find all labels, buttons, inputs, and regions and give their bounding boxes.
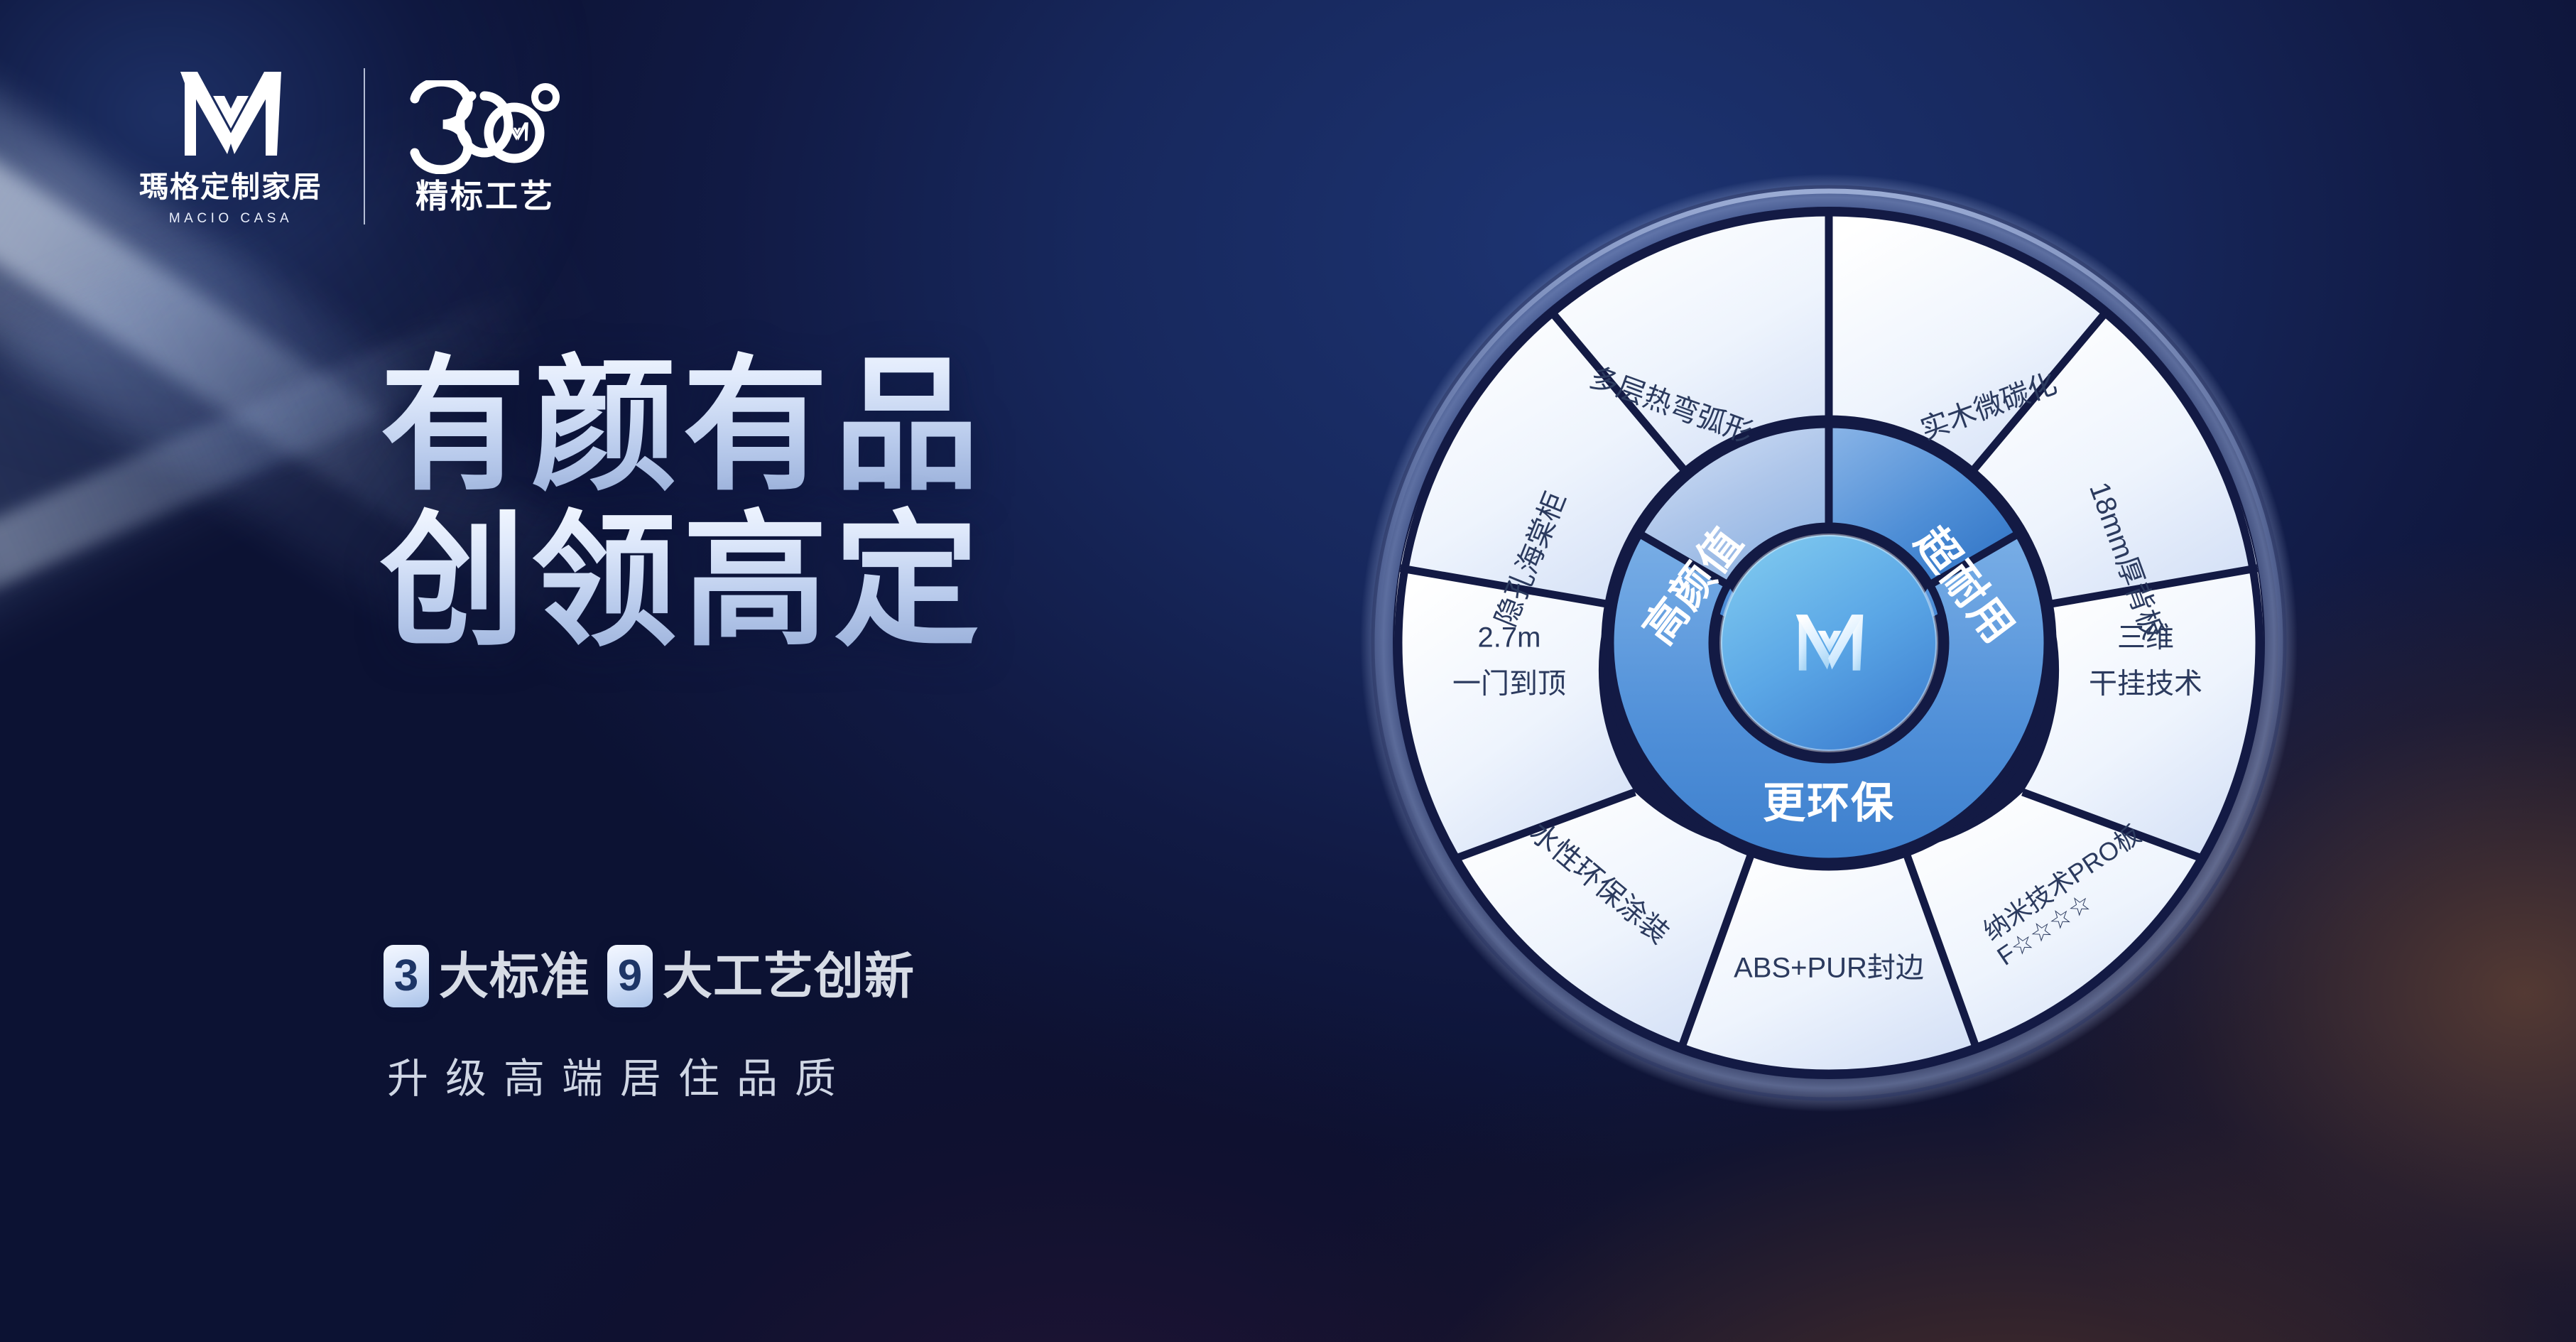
craft-wheel-diagram: 实木微碳化 18mm厚背板 三维 干挂技术 纳米技术PRO板 F☆☆☆☆ ABS… (1353, 167, 2305, 1119)
tagline: 升级高端居住品质 (387, 1059, 853, 1100)
marketing-banner: 瑪格定制家居 MACIO CASA 精标工艺 (0, 0, 2576, 1342)
wheel-center-badge[interactable] (1721, 535, 1937, 751)
standards-count-chip: 3 (384, 945, 429, 1007)
subheadline-block: 3 大标准 9 大工艺创新 (384, 945, 915, 1007)
craft-label-cn: 精标工艺 (415, 180, 555, 212)
360-degree-mark-icon (406, 80, 564, 174)
outer-label-2: 三维 (2117, 622, 2174, 654)
macio-m-monogram-icon (172, 67, 290, 160)
headline-line-2: 创领高定 (380, 504, 985, 659)
crafts-count-chip: 9 (607, 945, 653, 1007)
outer-label-6b: 一门到顶 (1452, 669, 1566, 700)
brand-primary: 瑪格定制家居 MACIO CASA (139, 67, 322, 225)
headline-line-1: 有颜有品 (380, 348, 985, 504)
brand-divider (364, 68, 365, 224)
crafts-label: 大工艺创新 (663, 951, 915, 1001)
craft-wheel-svg: 实木微碳化 18mm厚背板 三维 干挂技术 纳米技术PRO板 F☆☆☆☆ ABS… (1353, 167, 2305, 1119)
outer-label-4: ABS+PUR封边 (1734, 953, 1924, 984)
brand-name-cn: 瑪格定制家居 (139, 173, 322, 202)
headline-block: 有颜有品 创领高定 (380, 348, 985, 660)
standards-label: 大标准 (439, 951, 590, 1001)
outer-label-2b: 干挂技术 (2089, 669, 2202, 700)
inner-label-2: 更环保 (1763, 779, 1895, 827)
brand-secondary: 精标工艺 (406, 80, 564, 212)
brand-name-en: MACIO CASA (169, 212, 293, 225)
brand-lockup: 瑪格定制家居 MACIO CASA 精标工艺 (139, 67, 564, 225)
